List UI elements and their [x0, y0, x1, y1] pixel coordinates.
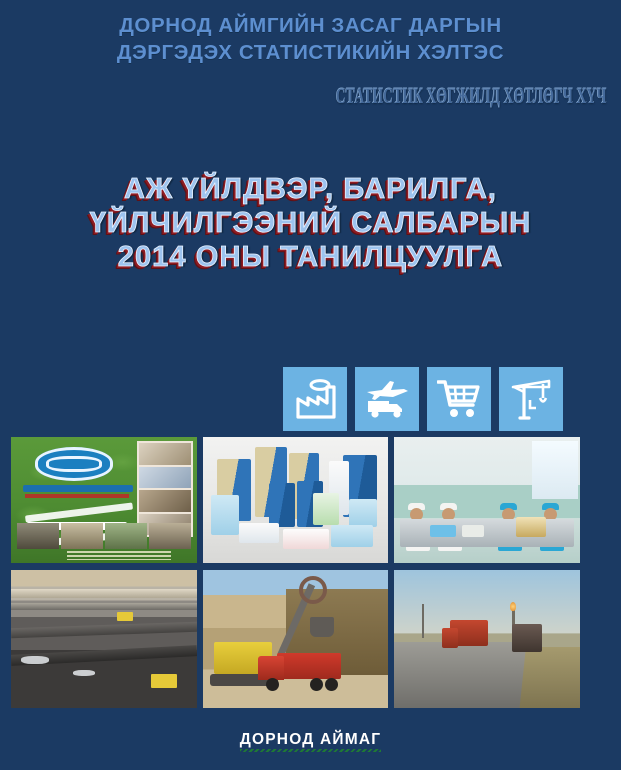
title-line-3: 2014 ОНЫ ТАНИЛЦУУЛГА	[0, 240, 621, 274]
organization-line-2: ДЭРГЭДЭХ СТАТИСТИКИЙН ХЭЛТЭС	[0, 39, 621, 66]
transport-icon	[364, 378, 410, 420]
shopping-cart-icon	[437, 379, 481, 419]
factory-icon	[294, 379, 336, 419]
transport-icon-tile	[355, 367, 419, 431]
motto-container: СТАТИСТИК ХӨГЖИЛД ХӨТЛӨГЧ ХҮЧ	[0, 83, 621, 117]
photo-row-1	[11, 437, 580, 563]
photo-row-2	[11, 570, 580, 708]
photo-food-plant-workers	[394, 437, 580, 563]
header: ДОРНОД АЙМГИЙН ЗАСАГ ДАРГЫН ДЭРГЭДЭХ СТА…	[0, 0, 621, 117]
shopping-cart-icon-tile	[427, 367, 491, 431]
title-line-1: АЖ ҮЙЛДВЭР, БАРИЛГА,	[0, 172, 621, 206]
photo-trucks-on-road	[394, 570, 580, 708]
footer-region-label: ДОРНОД АЙМАГ	[240, 731, 381, 752]
sector-icon-strip	[283, 367, 563, 431]
title-line-2: ҮЙЛЧИЛГЭЭНИЙ САЛБАРЫН	[0, 206, 621, 240]
crane-icon	[510, 378, 552, 420]
photo-grid	[11, 437, 580, 715]
footer: ДОРНОД АЙМАГ	[0, 731, 621, 752]
photo-open-pit-coal-mine	[11, 570, 197, 708]
photo-excavator-loading-truck	[203, 570, 389, 708]
organization-line-1: ДОРНОД АЙМГИЙН ЗАСАГ ДАРГЫН	[0, 12, 621, 39]
motto-text: СТАТИСТИК ХӨГЖИЛД ХӨТЛӨГЧ ХҮЧ	[336, 83, 607, 109]
page-title: АЖ ҮЙЛДВЭР, БАРИЛГА, ҮЙЛЧИЛГЭЭНИЙ САЛБАР…	[0, 172, 621, 274]
photo-dairy-company-poster	[11, 437, 197, 563]
photo-dairy-packaged-products	[203, 437, 389, 563]
crane-icon-tile	[499, 367, 563, 431]
factory-icon-tile	[283, 367, 347, 431]
